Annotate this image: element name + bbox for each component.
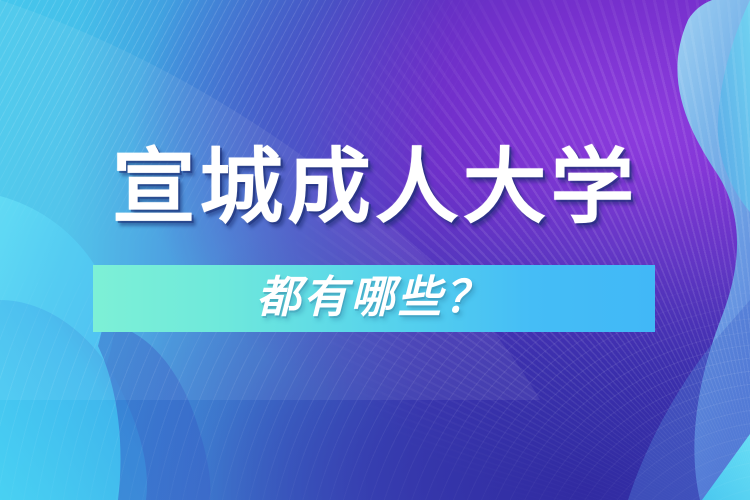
concentric-arc-texture [0,0,750,500]
subtitle-bar: 都有哪些？ [93,265,655,332]
promo-banner: 宣城成人大学 都有哪些？ [0,0,750,500]
subtitle-text: 都有哪些？ [93,276,655,320]
